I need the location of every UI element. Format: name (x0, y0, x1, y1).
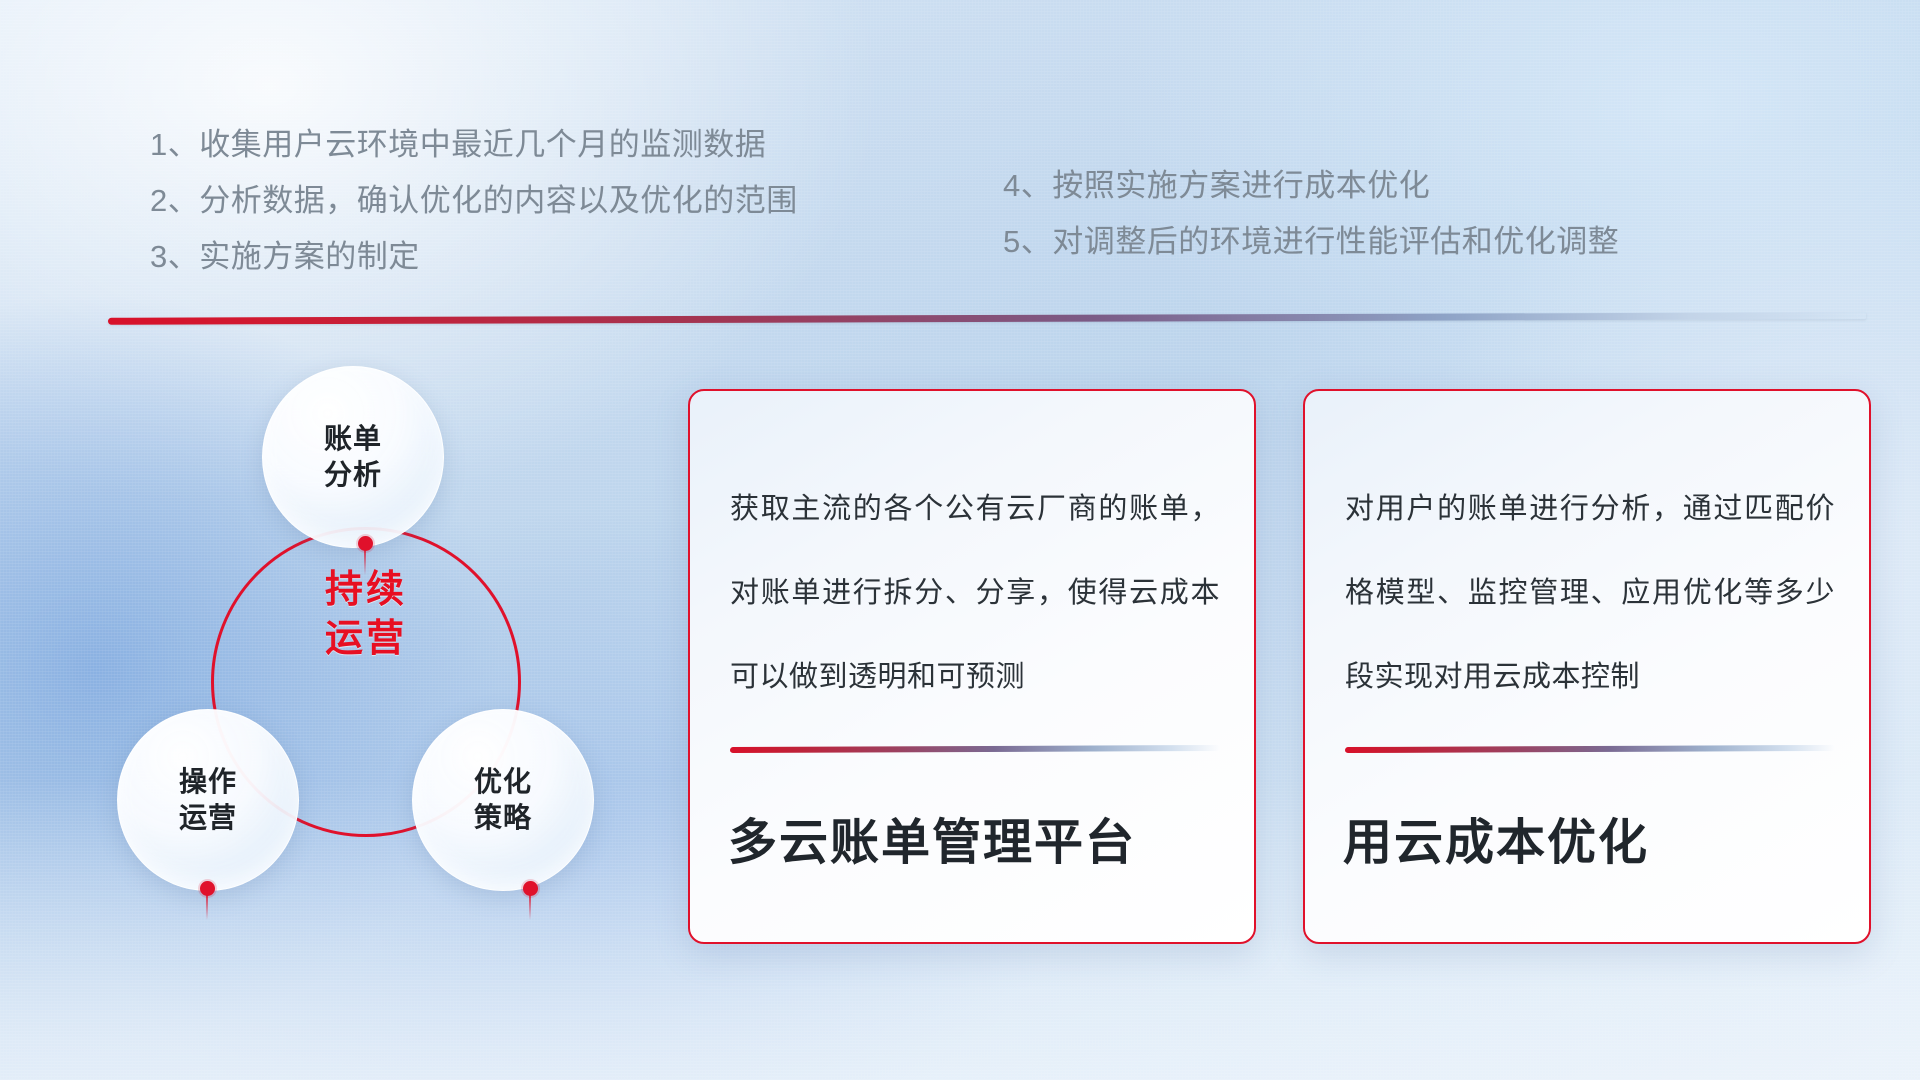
step-item: 2、分析数据，确认优化的内容以及优化的范围 (150, 173, 798, 229)
connector-dot-top (358, 536, 373, 551)
card-title: 用云成本优化 (1343, 803, 1649, 874)
card-accent-rule (1345, 745, 1835, 753)
bubble-label-line-2: 策略 (474, 800, 532, 836)
bubble-label-line-1: 优化 (474, 764, 532, 800)
card-cloud-cost-optimization[interactable]: 对用户的账单进行分析，通过匹配价格模型、监控管理、应用优化等多少段实现对用云成本… (1303, 389, 1871, 944)
bubble-label-line-2: 分析 (324, 457, 382, 493)
card-body-text: 对用户的账单进行分析，通过匹配价格模型、监控管理、应用优化等多少段实现对用云成本… (1345, 467, 1835, 719)
card-accent-rule (730, 745, 1220, 753)
bubble-bill-analysis[interactable]: 账单 分析 (262, 366, 444, 548)
step-list-right: 4、按照实施方案进行成本优化 5、对调整后的环境进行性能评估和优化调整 (1003, 158, 1619, 270)
center-label-line-2: 运营 (274, 615, 458, 664)
venn-circle-diagram: 持续 运营 账单 分析 操作 运营 优化 策略 (100, 350, 660, 950)
connector-stem-right (529, 894, 531, 920)
step-list-left: 1、收集用户云环境中最近几个月的监测数据 2、分析数据，确认优化的内容以及优化的… (150, 117, 798, 285)
bubble-operations[interactable]: 操作 运营 (117, 709, 299, 891)
step-item: 3、实施方案的制定 (150, 229, 798, 285)
bubble-optimization-strategy[interactable]: 优化 策略 (412, 709, 594, 891)
card-multicloud-billing[interactable]: 获取主流的各个公有云厂商的账单，对账单进行拆分、分享，使得云成本可以做到透明和可… (688, 389, 1256, 944)
connector-stem-left (206, 894, 208, 920)
bubble-label-line-1: 账单 (324, 421, 382, 457)
diagram-center-label: 持续 运营 (274, 566, 458, 665)
bubble-label-line-1: 操作 (179, 764, 237, 800)
connector-dot-right (523, 881, 538, 896)
step-item: 1、收集用户云环境中最近几个月的监测数据 (150, 117, 798, 173)
bubble-label-line-2: 运营 (179, 800, 237, 836)
connector-dot-left (200, 881, 215, 896)
step-item: 4、按照实施方案进行成本优化 (1003, 158, 1619, 214)
card-title: 多云账单管理平台 (728, 803, 1136, 874)
card-body-text: 获取主流的各个公有云厂商的账单，对账单进行拆分、分享，使得云成本可以做到透明和可… (730, 467, 1220, 719)
step-item: 5、对调整后的环境进行性能评估和优化调整 (1003, 214, 1619, 270)
center-label-line-1: 持续 (274, 566, 458, 615)
connector-stem-top (364, 549, 366, 575)
